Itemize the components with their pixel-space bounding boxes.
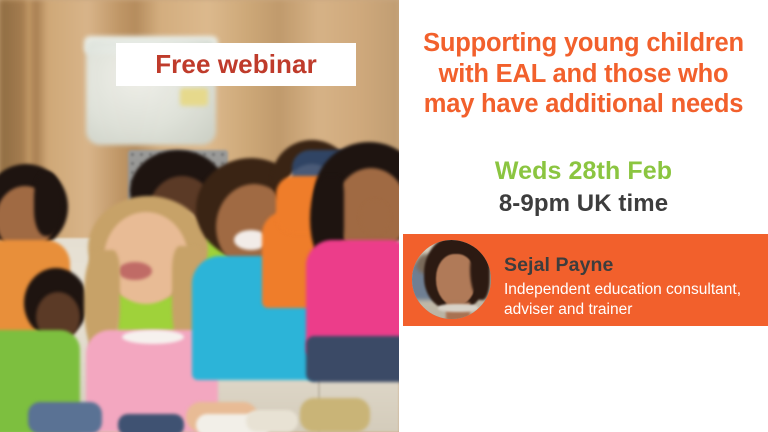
child-necklace [122,330,184,344]
child-shorts-denim [28,402,102,432]
speaker-portrait-photo [412,240,491,319]
info-panel: Supporting young children with EAL and t… [399,0,768,432]
child-hair-side [34,172,62,236]
free-webinar-badge: Free webinar [116,43,356,86]
speaker-band: Sejal Payne Independent education consul… [403,234,768,326]
webinar-headline: Supporting young children with EAL and t… [411,28,756,120]
speaker-name: Sejal Payne [504,254,614,277]
child-mouth [118,262,152,280]
child-shoe [300,398,370,432]
webinar-date: Weds 28th Feb [411,157,756,186]
child-shoe [246,410,298,432]
free-webinar-badge-label: Free webinar [155,49,317,80]
portrait-hair-right [470,244,490,300]
webinar-promo-graphic: Free webinar Supporting young children w… [0,0,768,432]
portrait-necklace [438,304,478,312]
speaker-role: Independent education consultant, advise… [504,280,762,320]
classroom-children-photo: Free webinar [0,0,399,432]
child-hand [360,200,390,234]
bin-label-secondary [180,88,208,106]
webinar-time: 8-9pm UK time [411,190,756,218]
child-shorts-denim [306,336,399,382]
child-shorts-denim [118,414,184,432]
